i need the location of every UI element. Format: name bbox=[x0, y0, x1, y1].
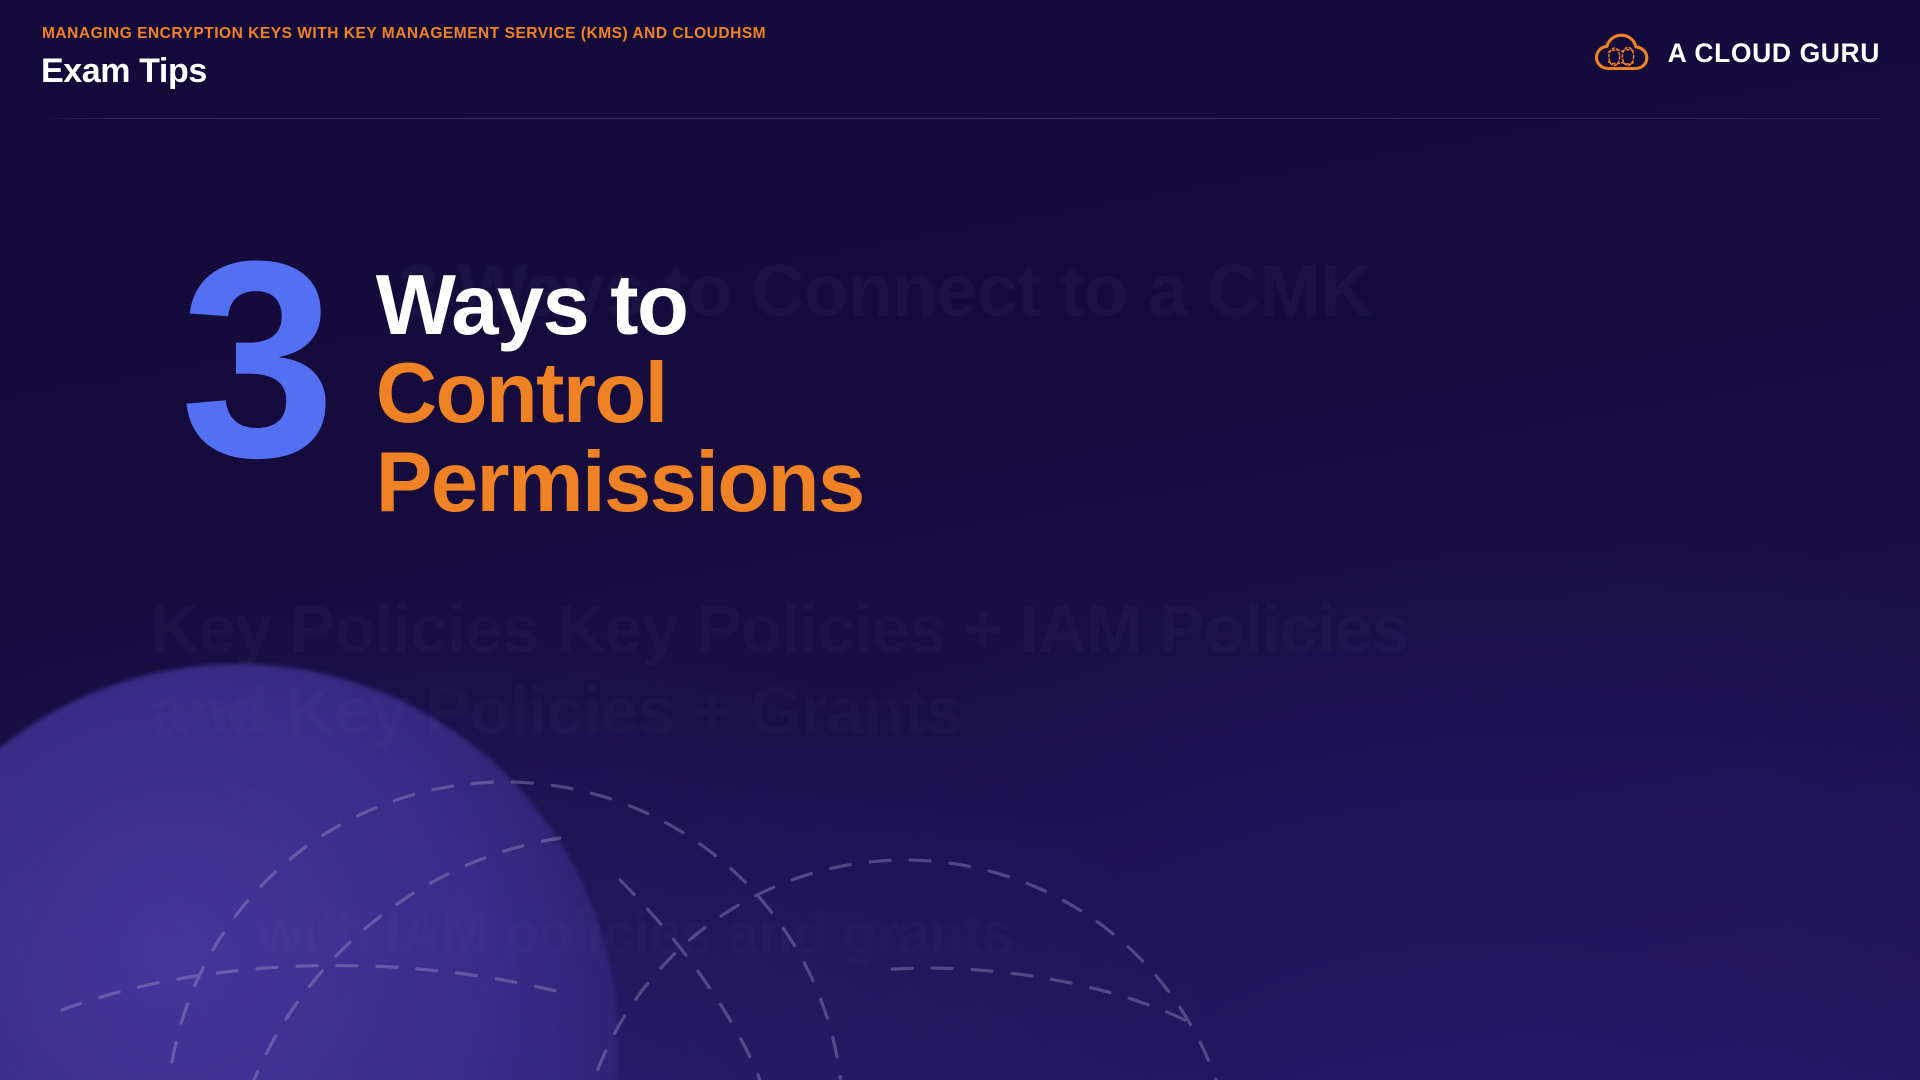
brand-name-label: A CLOUD GURU bbox=[1668, 38, 1880, 69]
headline-text-lines: Ways to Control Permissions bbox=[376, 262, 864, 527]
headline-number: 3 bbox=[180, 246, 328, 476]
ghost-text-line-1: Key Policies Key Policies + IAM Policies bbox=[150, 590, 1408, 668]
ghost-text-line-2: and Key Policies + Grants bbox=[150, 672, 962, 750]
slide-header: MANAGING ENCRYPTION KEYS WITH KEY MANAGE… bbox=[0, 0, 1920, 120]
headline-line-2: Control bbox=[376, 350, 864, 438]
dashed-globe-arcs bbox=[0, 0, 1920, 1080]
headline-line-3: Permissions bbox=[376, 439, 864, 527]
background-decoration: 3 Ways to Connect to a CMK Key Policies … bbox=[0, 0, 1920, 1080]
header-divider bbox=[41, 118, 1879, 119]
page-title: Exam Tips bbox=[41, 52, 207, 91]
background-glow-circle bbox=[0, 664, 618, 1080]
headline-block: 3 Ways to Control Permissions bbox=[180, 262, 864, 527]
brand-logo: A CLOUD GURU bbox=[1593, 31, 1880, 75]
headline-line-1: Ways to bbox=[376, 262, 864, 350]
ghost-text-line-3: with IAM policies and grants bbox=[258, 900, 1013, 967]
course-eyebrow-label: MANAGING ENCRYPTION KEYS WITH KEY MANAGE… bbox=[42, 25, 766, 43]
cloud-globe-icon bbox=[1593, 31, 1651, 75]
slide-root: 3 Ways to Connect to a CMK Key Policies … bbox=[0, 0, 1920, 1080]
